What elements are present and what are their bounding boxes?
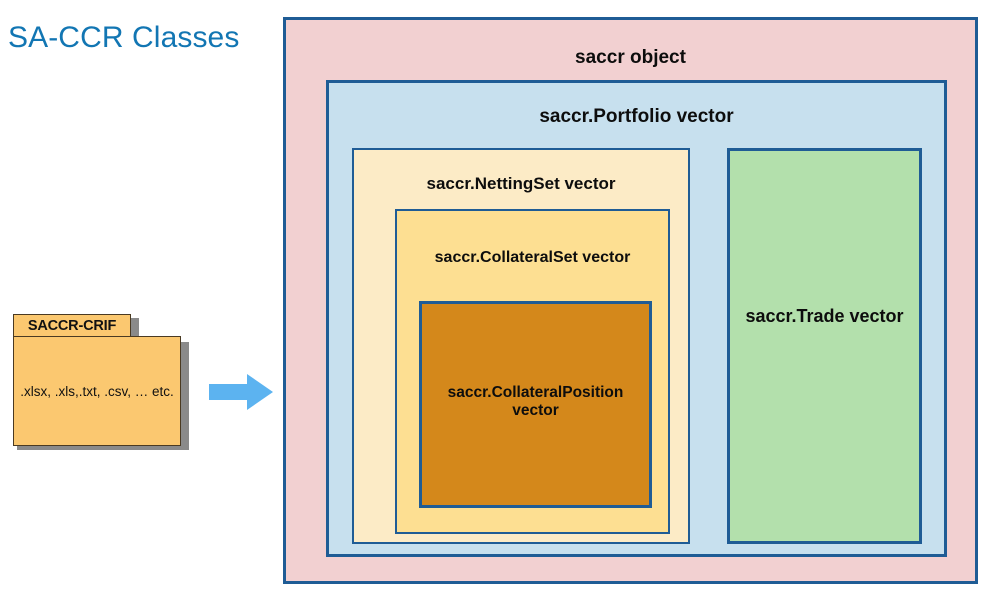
page-title: SA-CCR Classes bbox=[8, 20, 270, 56]
package-body: .xlsx, .xls,.txt, .csv, … etc. bbox=[13, 336, 181, 446]
saccr-trade-vector-label: saccr.Trade vector bbox=[730, 306, 919, 327]
package-tab: SACCR-CRIF bbox=[13, 314, 131, 337]
diagram-canvas: SA-CCR Classes SACCR-CRIF .xlsx, .xls,.t… bbox=[0, 0, 989, 597]
saccr-collateralposition-vector-label: saccr.CollateralPosition vector bbox=[422, 384, 649, 421]
package-tab-label: SACCR-CRIF bbox=[28, 318, 116, 334]
right-arrow-icon bbox=[209, 372, 273, 412]
saccr-collateralset-vector-label: saccr.CollateralSet vector bbox=[397, 249, 668, 268]
saccr-nettingset-vector-label: saccr.NettingSet vector bbox=[354, 174, 688, 194]
saccr-crif-package: SACCR-CRIF .xlsx, .xls,.txt, .csv, … etc… bbox=[13, 314, 189, 454]
saccr-portfolio-vector-label: saccr.Portfolio vector bbox=[329, 106, 944, 128]
saccr-object-label: saccr object bbox=[286, 47, 975, 69]
package-formats-label: .xlsx, .xls,.txt, .csv, … etc. bbox=[16, 382, 178, 401]
saccr-trade-vector-container: saccr.Trade vector bbox=[727, 148, 922, 544]
saccr-collateralposition-vector-container: saccr.CollateralPosition vector bbox=[419, 301, 652, 508]
